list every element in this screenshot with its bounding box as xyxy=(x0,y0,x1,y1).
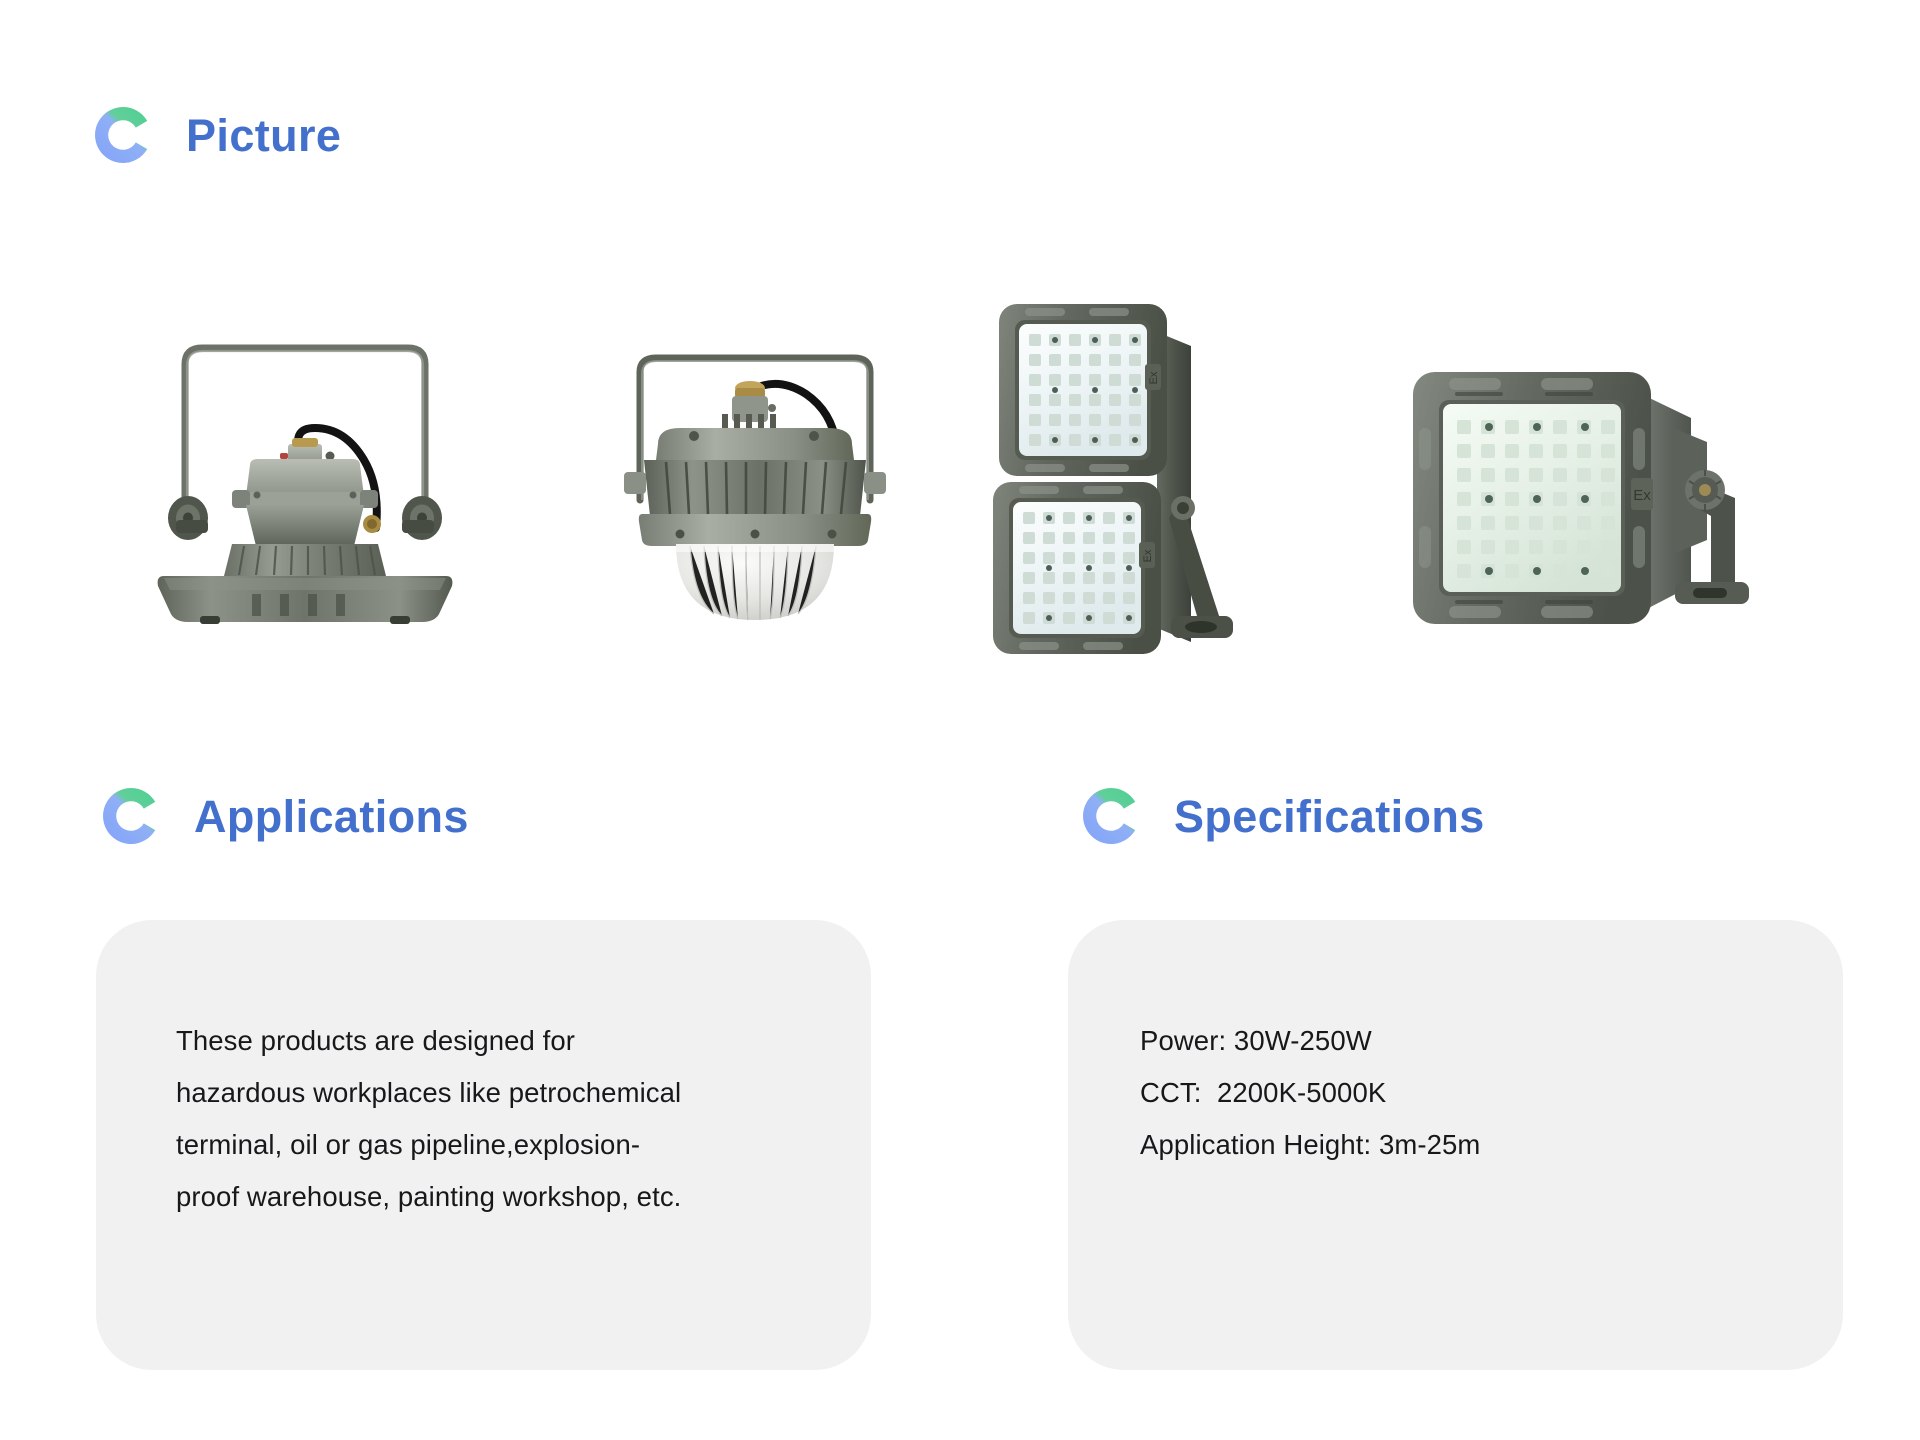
specifications-list: Power: 30W-250W CCT: 2200K-5000K Applica… xyxy=(1140,1015,1803,1171)
applications-text: These products are designed for hazardou… xyxy=(176,1015,831,1223)
c-logo-icon xyxy=(100,785,162,847)
product-gallery: Ex xyxy=(0,250,1920,700)
applications-line: hazardous workplaces like petrochemical xyxy=(176,1067,831,1119)
spec-item-cct: CCT: 2200K-5000K xyxy=(1140,1067,1803,1119)
page-title: Picture xyxy=(186,113,341,158)
section-title-specifications: Specifications xyxy=(1174,794,1485,839)
c-logo-icon xyxy=(1080,785,1142,847)
applications-line: These products are designed for xyxy=(176,1015,831,1067)
applications-line: terminal, oil or gas pipeline,explosion- xyxy=(176,1119,831,1171)
product-image-dual-module-flood-light[interactable]: Ex xyxy=(985,286,1265,686)
page-root: Picture xyxy=(0,0,1920,1440)
section-title-applications: Applications xyxy=(194,794,469,839)
specifications-card: Power: 30W-250W CCT: 2200K-5000K Applica… xyxy=(1068,920,1843,1370)
product-image-explosion-proof-high-bay-light[interactable] xyxy=(140,332,470,632)
section-header-applications: Applications xyxy=(100,785,469,847)
spec-item-height: Application Height: 3m-25m xyxy=(1140,1119,1803,1171)
applications-card: These products are designed for hazardou… xyxy=(96,920,871,1370)
c-logo-icon xyxy=(92,104,154,166)
product-image-single-module-flood-light[interactable]: Ex xyxy=(1405,350,1775,650)
svg-text:Ex: Ex xyxy=(1148,371,1160,384)
section-header-specifications: Specifications xyxy=(1080,785,1485,847)
svg-text:Ex: Ex xyxy=(1633,487,1651,504)
applications-line: proof warehouse, painting workshop, etc. xyxy=(176,1171,831,1223)
spec-item-power: Power: 30W-250W xyxy=(1140,1015,1803,1067)
section-header-picture: Picture xyxy=(92,104,341,166)
product-image-explosion-proof-dome-light[interactable] xyxy=(610,348,900,628)
svg-text:Ex: Ex xyxy=(1142,549,1154,562)
